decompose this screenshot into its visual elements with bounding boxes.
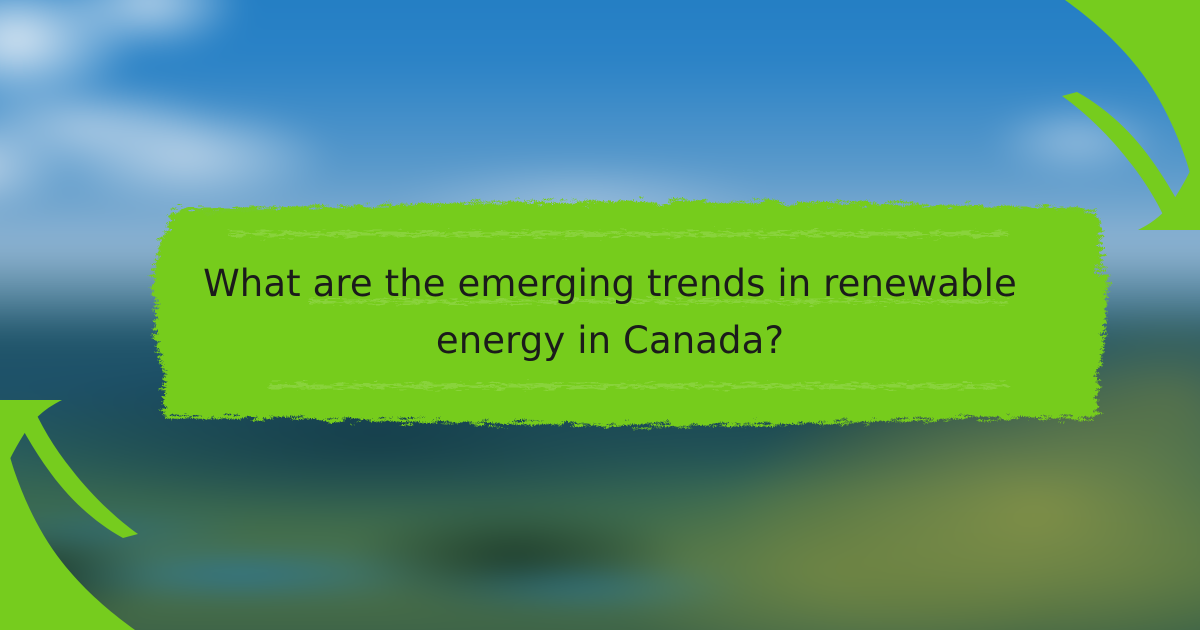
page-title: What are the emerging trends in renewabl… — [150, 255, 1070, 369]
question-card: What are the emerging trends in renewabl… — [0, 0, 1200, 630]
headline-container: What are the emerging trends in renewabl… — [150, 255, 1070, 369]
